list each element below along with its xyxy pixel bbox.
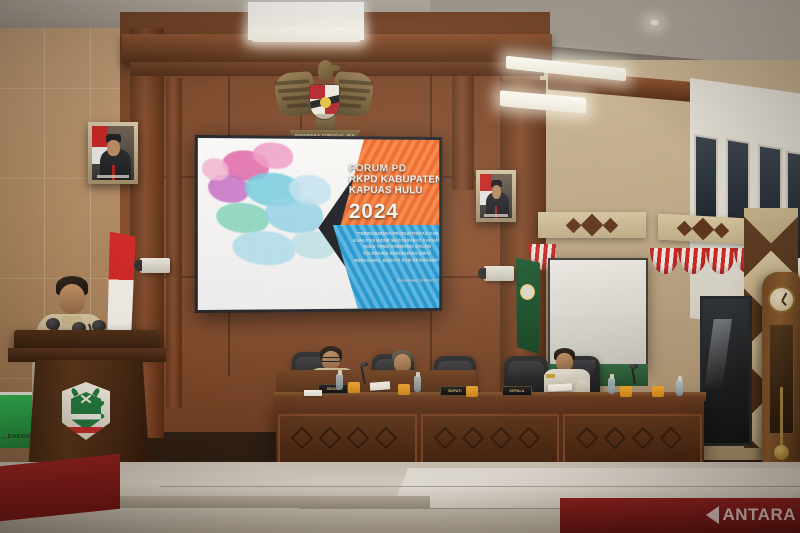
presiden-portrait: [88, 122, 138, 184]
dayak-motif-panel: [538, 212, 646, 238]
snack-box: [398, 384, 410, 395]
nameplate: KEPALA: [502, 386, 532, 396]
snack-box: [466, 386, 478, 397]
wall-speaker-right: [484, 266, 514, 281]
podium-ledge: [8, 348, 166, 362]
slide-eyebrow: FORUM PD: [349, 163, 439, 175]
table-carve-panel: [563, 414, 702, 464]
table-carve-panel: [278, 414, 417, 464]
garuda-pancasila-emblem: BHINNEKA TUNGGAL IKA: [276, 54, 372, 146]
table-microphone-head: [360, 362, 368, 367]
regional-green-flag: [516, 258, 540, 354]
table-microphone-head: [630, 364, 638, 369]
slide-date: Putussibau, 14 Maret 2024: [351, 278, 439, 282]
document-paper: [548, 383, 572, 391]
wall-speaker-left: [140, 258, 170, 273]
water-bottle: [676, 380, 683, 396]
head-table-carved-front: [278, 414, 702, 464]
snack-box: [348, 382, 360, 393]
slide-year: 2024: [349, 201, 439, 224]
snack-box: [652, 386, 664, 397]
main-projection-screen: FORUM PD RKPD KABUPATEN KAPUAS HULU 2024…: [195, 135, 442, 313]
document-paper: [370, 381, 391, 390]
table-microphone-head: [590, 360, 598, 365]
microphone-head: [46, 318, 60, 330]
clock-case-glass: [769, 324, 794, 434]
fluorescent-tube-light: [252, 28, 360, 42]
grandfather-clock: [762, 272, 800, 462]
antara-watermark: ANTARA: [706, 505, 796, 525]
water-bottle: [608, 378, 615, 394]
slide-subtitle-line2: KAPUAS HULU: [349, 186, 439, 197]
watermark-text: ANTARA: [722, 505, 796, 525]
document-paper: [304, 390, 322, 396]
clock-face: [768, 286, 795, 313]
nameplate: SEKDA: [318, 384, 348, 394]
pilaster-mid: [166, 78, 182, 408]
wakil-presiden-portrait: [476, 170, 516, 222]
pilaster-right: [452, 60, 474, 190]
glass-door[interactable]: [700, 296, 752, 446]
presentation-slide: FORUM PD RKPD KABUPATEN KAPUAS HULU 2024…: [198, 138, 439, 310]
photo-scene: BHINNEKA TUNGGAL IKA: [0, 0, 800, 533]
slide-vision-quote: "TERWUJUDNYA PRODUKTIVITAS DAN KUALITAS …: [351, 231, 439, 264]
water-bottle: [414, 376, 421, 392]
watermark-triangle-icon: [706, 506, 719, 524]
snack-box: [620, 386, 632, 397]
pancasila-shield: [309, 84, 340, 120]
water-bottle: [336, 374, 343, 390]
garuda-beak: [329, 65, 340, 71]
ceiling-downlight: [648, 18, 661, 27]
table-carve-panel: [421, 414, 560, 464]
dayak-motif-panel: [658, 214, 748, 245]
